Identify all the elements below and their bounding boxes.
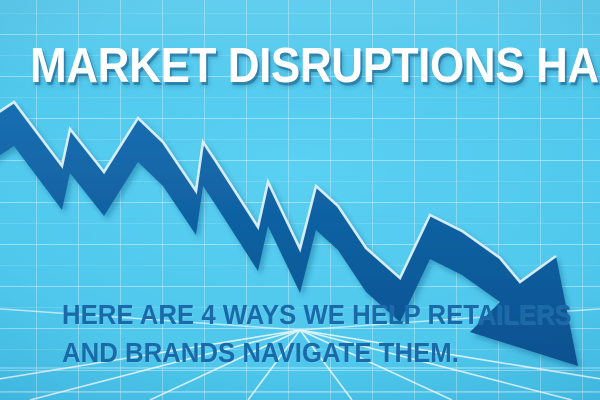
page-title: MARKET DISRUPTIONS HAPPEN. — [30, 42, 570, 91]
poster-canvas: MARKET DISRUPTIONS HAPPEN. HERE ARE 4 WA… — [0, 0, 600, 400]
subtitle-block: HERE ARE 4 WAYS WE HELP RETAILERS AND BR… — [62, 296, 572, 372]
subtitle-line-2: AND BRANDS NAVIGATE THEM. — [62, 334, 572, 372]
subtitle-line-1: HERE ARE 4 WAYS WE HELP RETAILERS — [62, 299, 572, 330]
